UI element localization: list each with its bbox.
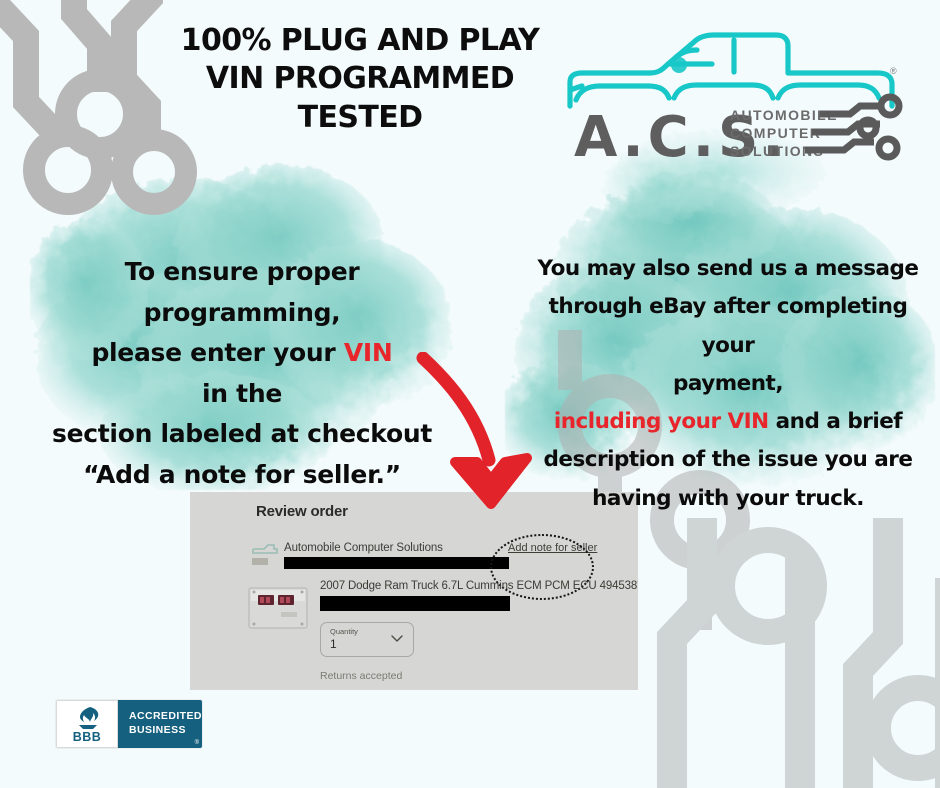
instruction-text-left: To ensure proper programming, please ent… — [28, 252, 456, 495]
review-order-heading: Review order — [256, 503, 348, 520]
vin-highlight-right: including your VIN — [554, 409, 769, 434]
quantity-select[interactable]: Quantity 1 — [320, 622, 414, 657]
seller-info-redaction-bar — [284, 557, 509, 569]
copy-left-line-3-text: please enter your — [91, 338, 343, 367]
bbb-line-1: ACCREDITED — [129, 710, 202, 724]
bbb-accreditation-panel: ACCREDITED BUSINESS ® — [118, 700, 202, 748]
copy-right-line-1: You may also send us a message — [534, 250, 922, 288]
quantity-value: 1 — [330, 637, 337, 651]
headline-line-2: VIN PROGRAMMED — [120, 60, 600, 98]
ecm-module-thumbnail[interactable] — [245, 580, 311, 640]
returns-accepted-text: Returns accepted — [320, 670, 402, 682]
bbb-abbreviation: BBB — [57, 730, 117, 744]
copy-right-line-6: having with your truck. — [534, 480, 922, 518]
copy-left-line-2: programming, — [28, 293, 456, 334]
bbb-accredited-business-badge: BBB ACCREDITED BUSINESS ® — [56, 700, 202, 748]
quantity-label: Quantity — [330, 627, 358, 636]
copy-right-line-5: description of the issue you are — [534, 441, 922, 479]
headline-line-3: TESTED — [120, 99, 600, 137]
vin-highlight-left: VIN — [344, 338, 393, 367]
headline-line-1: 100% PLUG AND PLAY — [120, 22, 600, 60]
seller-logo-thumbnail — [250, 540, 280, 568]
bbb-torch-icon — [71, 706, 105, 732]
copy-right-line-4: including your VIN and a brief — [534, 403, 922, 441]
copy-right-line-3: payment, — [534, 365, 922, 403]
bbb-line-2: BUSINESS — [129, 724, 186, 738]
copy-left-line-3: please enter your VIN — [28, 333, 456, 374]
page-headline: 100% PLUG AND PLAY VIN PROGRAMMED TESTED — [120, 22, 600, 137]
acs-brand-logo: ® A.C.S. AUTOMOBILE COMPUTER SOLUTIONS — [562, 28, 907, 168]
instruction-text-right: You may also send us a message through e… — [534, 250, 922, 518]
logo-tagline-line-2: COMPUTER — [730, 125, 821, 141]
pickup-truck-outline-icon — [570, 35, 892, 106]
poster-canvas: 100% PLUG AND PLAY VIN PROGRAMMED TESTED… — [0, 0, 940, 788]
item-title[interactable]: 2007 Dodge Ram Truck 6.7L Cummins ECM PC… — [320, 580, 638, 592]
seller-row: Automobile Computer Solutions Add note f… — [250, 540, 630, 570]
bbb-logo-panel: BBB — [56, 700, 118, 748]
logo-registered-mark: ® — [890, 66, 897, 76]
seller-name: Automobile Computer Solutions — [284, 542, 443, 554]
copy-left-line-6: “Add a note for seller.” — [28, 455, 456, 496]
bbb-registered-mark: ® — [195, 740, 199, 746]
copy-left-line-5: section labeled at checkout — [28, 414, 456, 455]
copy-left-line-1: To ensure proper — [28, 252, 456, 293]
copy-right-line-2: through eBay after completing your — [534, 288, 922, 365]
chevron-down-icon — [391, 635, 403, 643]
copy-right-line-4-text: and a brief — [769, 409, 902, 434]
copy-left-line-4: in the — [28, 374, 456, 415]
price-redaction-bar — [320, 596, 510, 611]
ebay-checkout-screenshot: Review order Automobile Computer Solutio… — [190, 492, 638, 690]
circuit-trace-decoration-bottom-right — [650, 518, 940, 788]
